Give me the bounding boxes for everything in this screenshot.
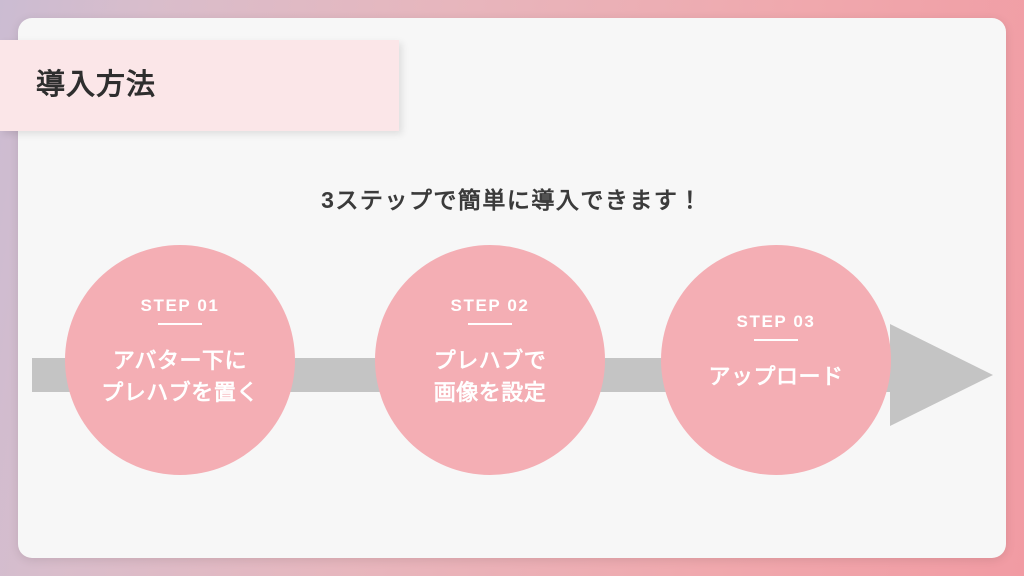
step-title-1: アバター下に プレハブを置く — [101, 345, 259, 409]
slide-root: 3ステップで簡単に導入できます！ STEP 01 アバター下に プレハブを置く … — [0, 0, 1024, 576]
step-label-1: STEP 01 — [141, 297, 220, 314]
step-label-3: STEP 03 — [737, 313, 816, 330]
slide-title-band: 導入方法 — [0, 40, 399, 131]
step-divider-2 — [468, 323, 512, 325]
step-divider-1 — [158, 323, 202, 325]
step-label-2: STEP 02 — [451, 297, 530, 314]
step-divider-3 — [754, 339, 798, 341]
step-title-2: プレハブで 画像を設定 — [434, 345, 547, 409]
step-circle-1[interactable]: STEP 01 アバター下に プレハブを置く — [65, 245, 295, 475]
page-title: 導入方法 — [36, 71, 156, 100]
step-circle-3[interactable]: STEP 03 アップロード — [661, 245, 891, 475]
steps-row: STEP 01 アバター下に プレハブを置く STEP 02 プレハブで 画像を… — [18, 245, 1006, 477]
step-title-3: アップロード — [708, 361, 843, 393]
slide-subtitle: 3ステップで簡単に導入できます！ — [18, 181, 1006, 215]
step-circle-2[interactable]: STEP 02 プレハブで 画像を設定 — [375, 245, 605, 475]
